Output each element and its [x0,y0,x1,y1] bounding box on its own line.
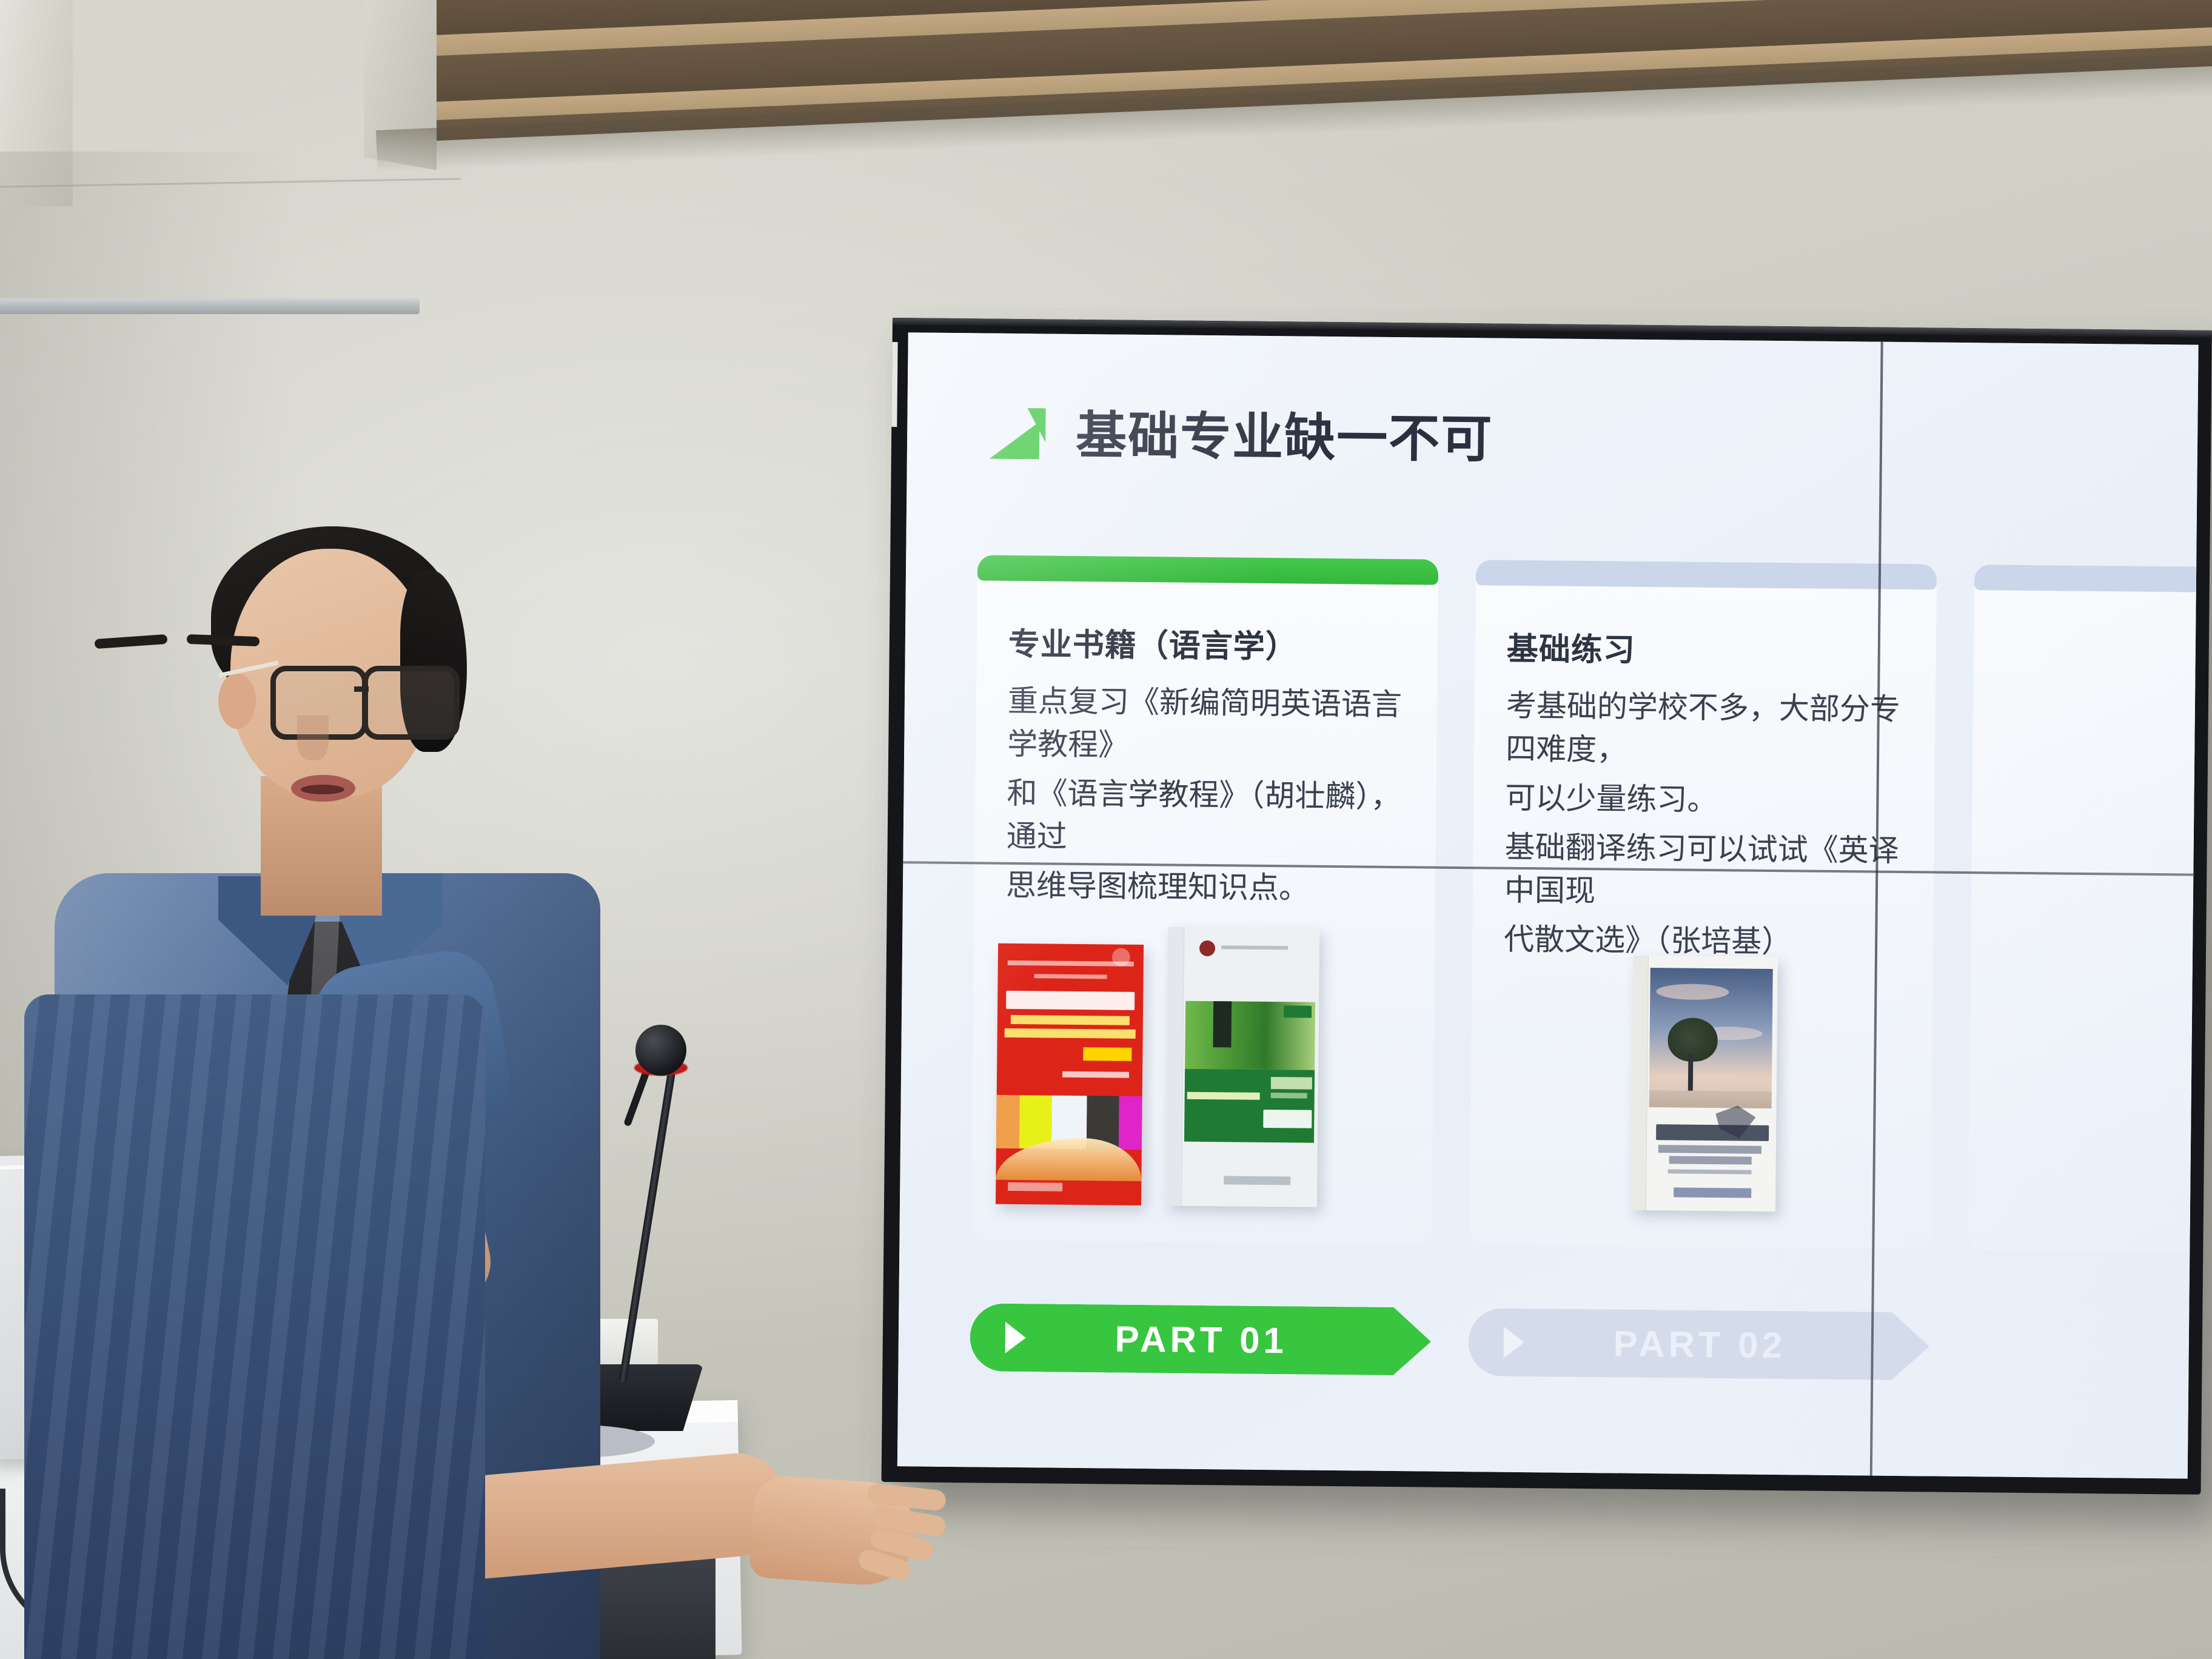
card-heading: 专业书籍（语言学） [1008,618,1412,668]
presenter-nose [297,716,329,760]
card-paragraph-line: 考基础的学校不多，大部分专四难度， [1506,685,1909,774]
eyeglass-lens-right [363,666,460,740]
part-banner-01[interactable]: PART 01 [970,1303,1431,1375]
card-paragraph-line: 可以少量练习。 [1505,777,1908,823]
book-cover-group [996,919,1416,1208]
screenshot-root: 基础专业缺一不可 专业书籍（语言学） 重点复习《新编简明英语语言学教程》 和《语… [0,0,2212,1659]
card-accent-bar [1476,560,1937,589]
part-banner-row: PART 01 PART 02 [970,1303,2198,1383]
card-row: 专业书籍（语言学） 重点复习《新编简明英语语言学教程》 和《语言学教程》（胡壮麟… [971,555,2198,1252]
book-cover-linguistics-green [1165,927,1319,1207]
part-banner-02[interactable]: PART 02 [1468,1308,1929,1380]
green-double-triangle-icon [986,403,1050,459]
page-title: 基础专业缺一不可 [1076,395,1493,472]
card-accent-bar [1974,565,2199,594]
card-text-block: 专业书籍（语言学） 重点复习《新编简明英语语言学教程》 和《语言学教程》（胡壮麟… [1006,618,1412,917]
eyeglasses [218,655,461,728]
presentation-slide: 基础专业缺一不可 专业书籍（语言学） 重点复习《新编简明英语语言学教程》 和《语… [897,332,2199,1478]
display-screen: 基础专业缺一不可 专业书籍（语言学） 重点复习《新编简明英语语言学教程》 和《语… [897,332,2199,1478]
play-triangle-icon [1005,1322,1026,1353]
content-card-basic-practice[interactable]: 基础练习 考基础的学校不多，大部分专四难度， 可以少量练习。 基础翻译练习可以试… [1469,560,1937,1249]
laptop-base [0,298,420,314]
card-heading: 基础练习 [1506,623,1909,672]
card-paragraph-line: 和《语言学教程》（胡壮麟），通过 [1006,772,1409,862]
card-paragraph-line: 重点复习《新编简明英语语言学教程》 [1007,680,1410,769]
part-banner-label: PART 01 [1026,1317,1377,1362]
content-card-professional-books[interactable]: 专业书籍（语言学） 重点复习《新编简明英语语言学教程》 和《语言学教程》（胡壮麟… [971,555,1438,1244]
play-triangle-icon [1504,1327,1524,1358]
card-paragraph-line: 思维导图梳理知识点。 [1006,864,1409,911]
book-cover-selected-essays [1631,956,1778,1212]
presenter-shirt-folds [24,994,485,1659]
part-banner-label: PART 02 [1524,1322,1875,1367]
book-cover-linguistics-red [996,943,1144,1205]
bezel-side-reflection [891,342,897,427]
content-card-partial-offscreen[interactable] [1968,565,2198,1254]
slide-header: 基础专业缺一不可 [986,394,1493,472]
card-accent-bar [977,555,1438,585]
book-cover-group [1494,924,1915,1213]
card-text-block: 基础练习 考基础的学校不多，大部分专四难度， 可以少量练习。 基础翻译练习可以试… [1504,623,1909,971]
video-wall-display: 基础专业缺一不可 专业书籍（语言学） 重点复习《新编简明英语语言学教程》 和《语… [882,318,2212,1495]
presenter-mouth [291,775,355,802]
